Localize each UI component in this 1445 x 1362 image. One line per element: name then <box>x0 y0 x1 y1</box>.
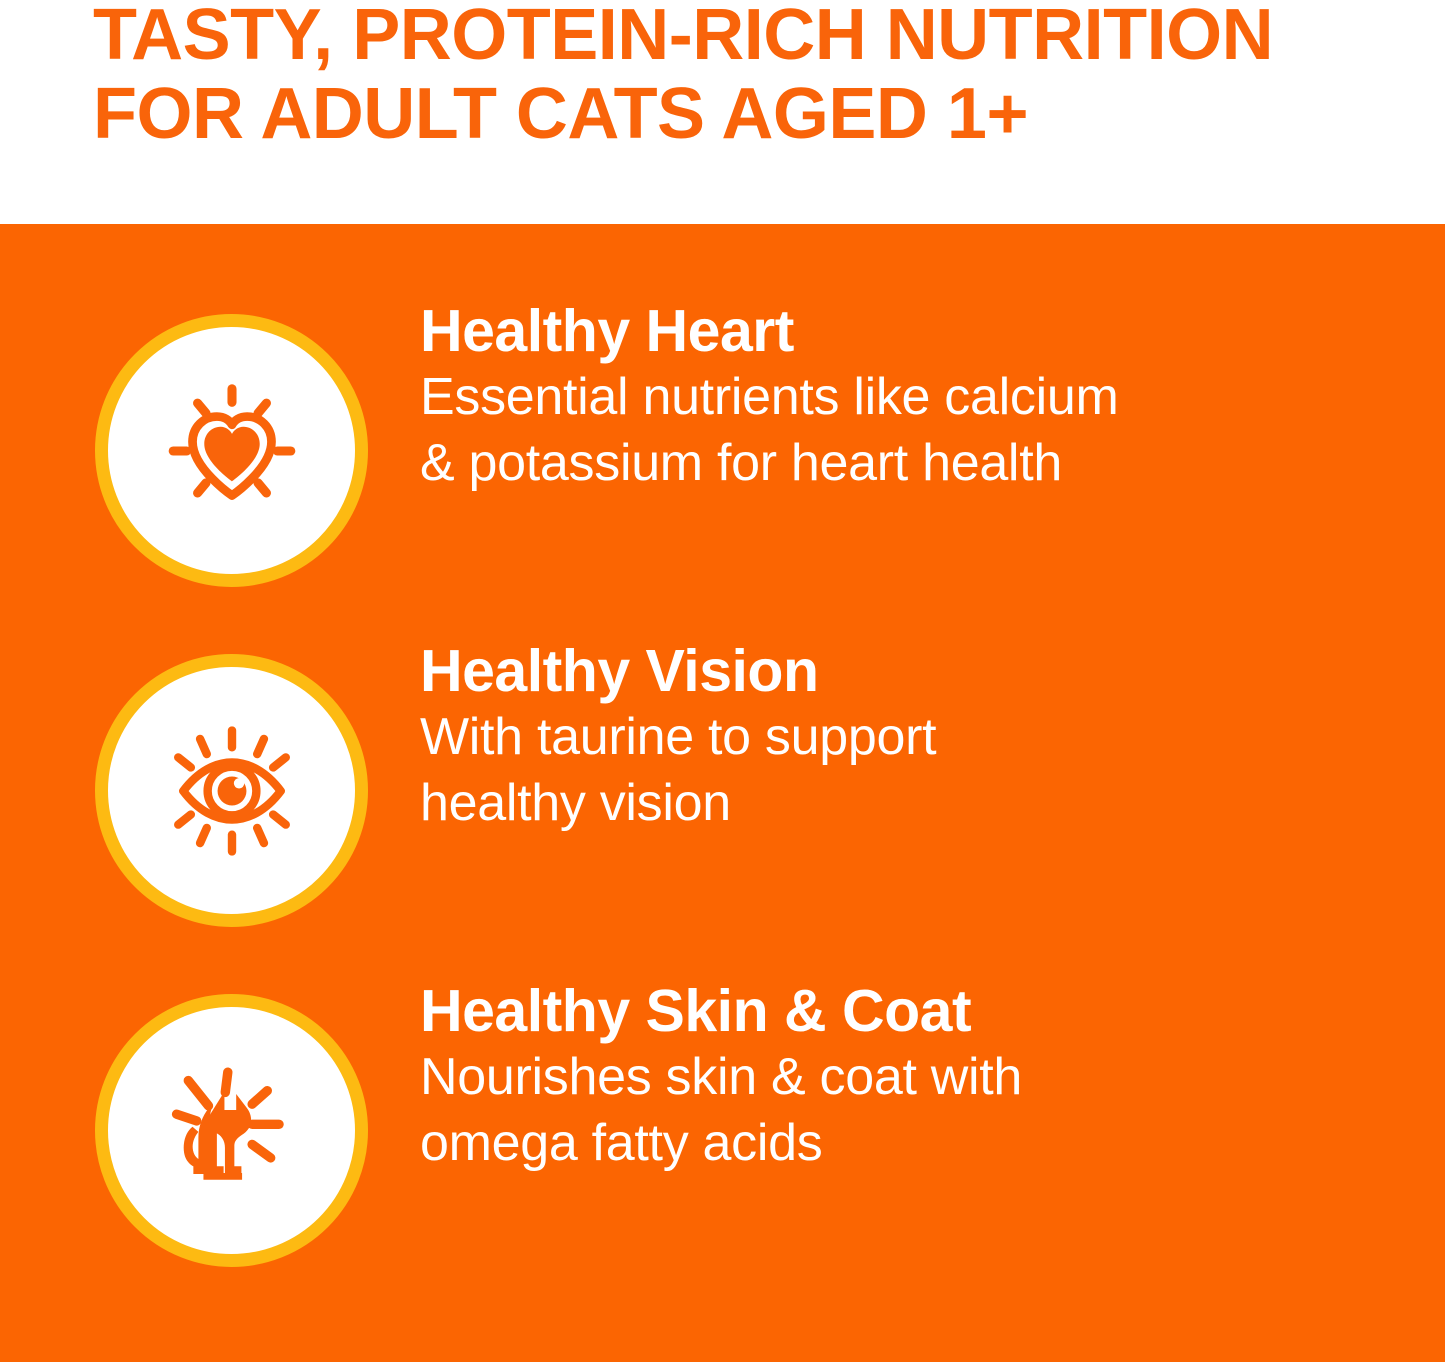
product-benefits-infographic: TASTY, PROTEIN-RICH NUTRITION FOR ADULT … <box>0 0 1445 1362</box>
benefit-title: Healthy Vision <box>420 640 1380 702</box>
benefit-description: With taurine to support healthy vision <box>420 704 1380 836</box>
benefit-title: Healthy Skin & Coat <box>420 980 1380 1042</box>
benefit-copy: Healthy Skin & Coat Nourishes skin & coa… <box>420 980 1380 1176</box>
benefit-copy: Healthy Heart Essential nutrients like c… <box>420 300 1380 496</box>
benefit-row: Healthy Skin & Coat Nourishes skin & coa… <box>0 980 1445 1280</box>
benefit-row: Healthy Heart Essential nutrients like c… <box>0 300 1445 600</box>
radiant-eye-icon <box>148 707 316 875</box>
radiant-cat-icon <box>148 1047 316 1215</box>
benefit-description: Nourishes skin & coat with omega fatty a… <box>420 1044 1380 1176</box>
benefit-row: Healthy Vision With taurine to support h… <box>0 640 1445 940</box>
benefit-icon-badge <box>95 654 368 927</box>
benefit-icon-badge <box>95 994 368 1267</box>
benefit-description: Essential nutrients like calcium & potas… <box>420 364 1380 496</box>
benefit-icon-badge <box>95 314 368 587</box>
page-title: TASTY, PROTEIN-RICH NUTRITION FOR ADULT … <box>93 0 1393 154</box>
benefits-panel: Healthy Heart Essential nutrients like c… <box>0 224 1445 1362</box>
radiant-heart-icon <box>148 367 316 535</box>
header-band: TASTY, PROTEIN-RICH NUTRITION FOR ADULT … <box>0 0 1445 224</box>
benefit-copy: Healthy Vision With taurine to support h… <box>420 640 1380 836</box>
benefit-title: Healthy Heart <box>420 300 1380 362</box>
